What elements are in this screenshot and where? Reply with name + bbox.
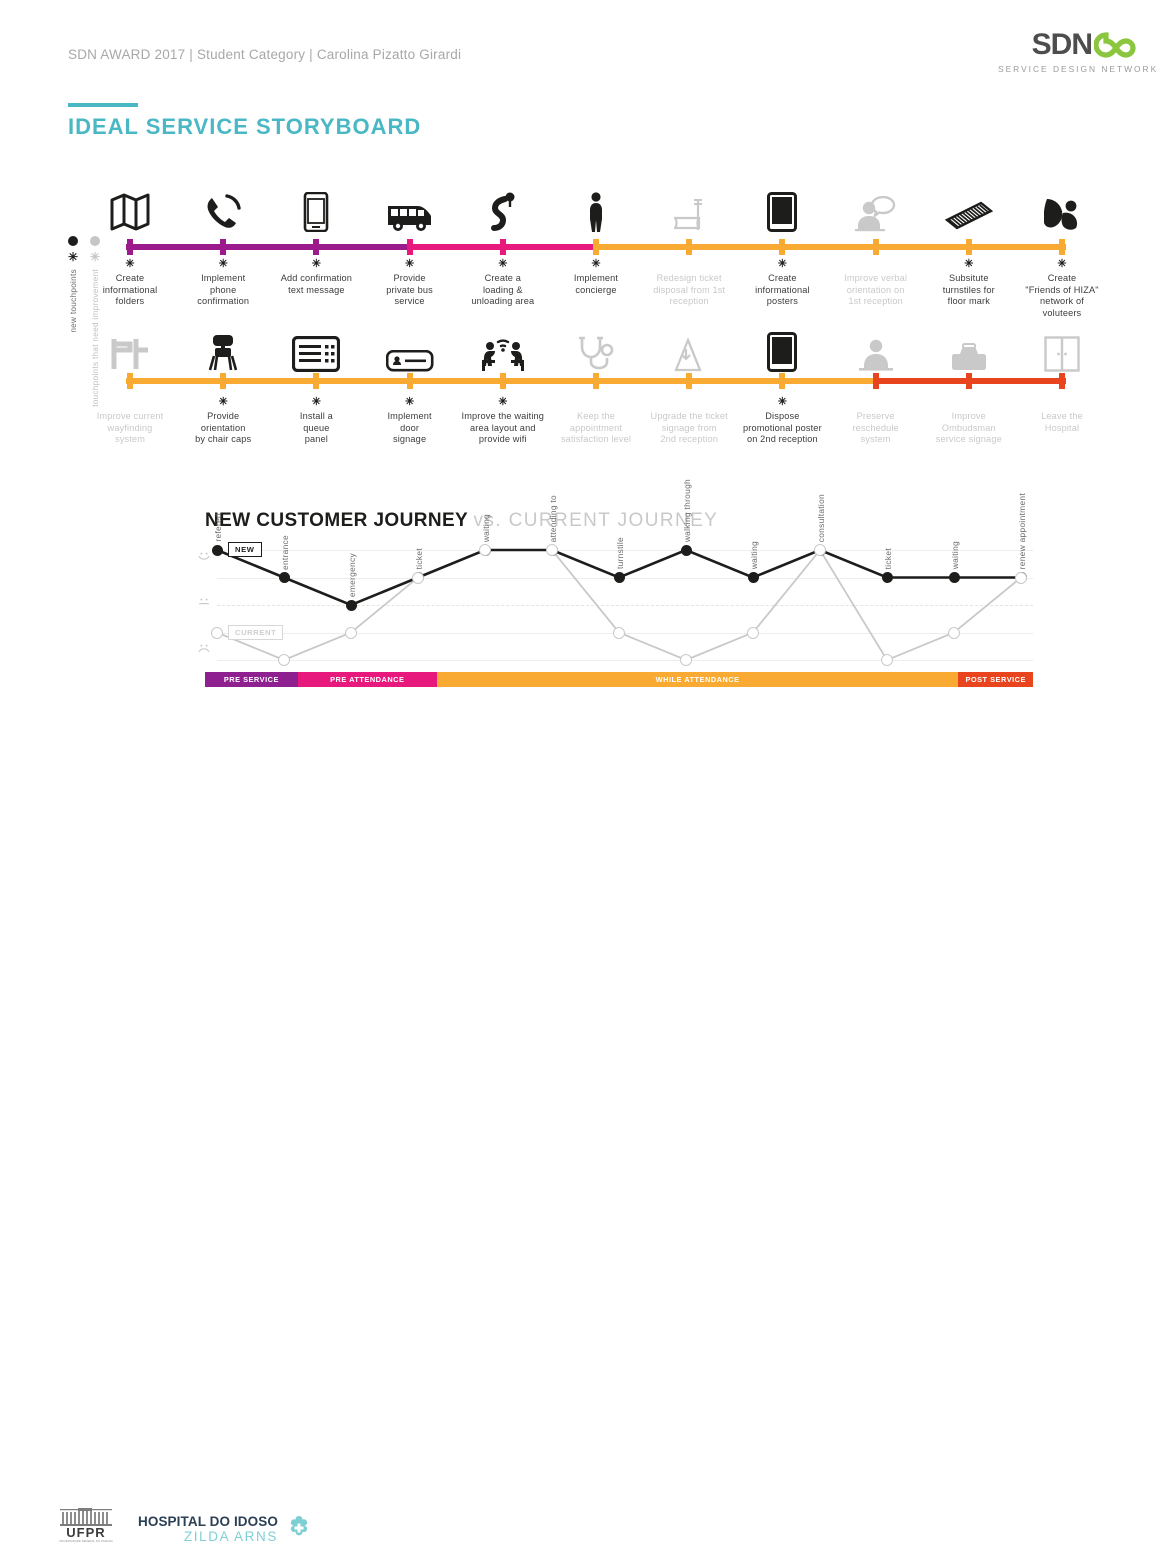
journey-stage-label: ticket bbox=[414, 548, 424, 569]
touchpoint-asterisk-icon: ✳ bbox=[1002, 397, 1122, 409]
journey-stage-label: renew appointment bbox=[1017, 493, 1027, 569]
journey-point-current[interactable] bbox=[345, 627, 357, 639]
touchpoint-improve[interactable]: ✳Leave theHospital bbox=[1002, 316, 1122, 434]
journey-point-new[interactable] bbox=[681, 545, 692, 556]
hospital-cross-flower-icon bbox=[284, 1511, 314, 1546]
sdn-logo-wordmark: SDN bbox=[1032, 30, 1092, 60]
journey-point-new[interactable] bbox=[614, 572, 625, 583]
ufpr-building-icon bbox=[58, 1508, 114, 1526]
journey-point-current[interactable] bbox=[546, 544, 558, 556]
journey-point-current[interactable] bbox=[747, 627, 759, 639]
journey-point-current[interactable] bbox=[479, 544, 491, 556]
journey-point-current[interactable] bbox=[211, 627, 223, 639]
journey-point-current[interactable] bbox=[412, 572, 424, 584]
journey-stage-label: ticket bbox=[883, 548, 893, 569]
volunteers-icon bbox=[1002, 176, 1122, 232]
journey-chart-title: NEW CUSTOMER JOURNEY vs. CURRENT JOURNEY bbox=[205, 510, 718, 532]
ufpr-logo: UFPR UNIVERSIDADE FEDERAL DO PARANA bbox=[58, 1508, 114, 1543]
touchpoint-new[interactable]: ✳Create"Friends of HIZA"network ofvolute… bbox=[1002, 176, 1122, 319]
journey-stage-label: attending to bbox=[548, 495, 558, 542]
ufpr-subtitle: UNIVERSIDADE FEDERAL DO PARANA bbox=[58, 1540, 114, 1543]
journey-tag-new: NEW bbox=[228, 542, 262, 557]
phase-post-service: POST SERVICE bbox=[958, 672, 1033, 687]
journey-stage-label: turnstile bbox=[615, 537, 625, 569]
hospital-logo: HOSPITAL DO IDOSO ZILDA ARNS bbox=[138, 1511, 314, 1546]
journey-phase-bar: PRE SERVICEPRE ATTENDANCEWHILE ATTENDANC… bbox=[205, 672, 1033, 687]
journey-point-new[interactable] bbox=[212, 545, 223, 556]
journey-plot-area: referedentranceemergencyticketwaitingatt… bbox=[205, 546, 1033, 664]
phase-pre-service: PRE SERVICE bbox=[205, 672, 298, 687]
journey-stage-label: walking through bbox=[682, 479, 692, 542]
journey-point-new[interactable] bbox=[949, 572, 960, 583]
journey-point-current[interactable] bbox=[278, 654, 290, 666]
ufpr-wordmark: UFPR bbox=[58, 1526, 114, 1540]
journey-stage-label: waiting bbox=[481, 514, 491, 542]
touchpoint-asterisk-icon: ✳ bbox=[1002, 259, 1122, 271]
touchpoint-label: Leave theHospital bbox=[1002, 411, 1122, 434]
journey-point-current[interactable] bbox=[680, 654, 692, 666]
journey-stage-label: consultation bbox=[816, 494, 826, 542]
page-footer: UFPR UNIVERSIDADE FEDERAL DO PARANA HOSP… bbox=[0, 750, 1176, 800]
customer-journey-chart: NEW CUSTOMER JOURNEY vs. CURRENT JOURNEY… bbox=[0, 498, 1176, 698]
journey-point-new[interactable] bbox=[748, 572, 759, 583]
journey-stage-label: emergency bbox=[347, 553, 357, 597]
journey-point-current[interactable] bbox=[613, 627, 625, 639]
infinity-icon bbox=[1094, 32, 1138, 58]
sdn-logo-subtitle: SERVICE DESIGN NETWORK bbox=[998, 64, 1138, 74]
phase-pre-attendance: PRE ATTENDANCE bbox=[298, 672, 437, 687]
title-rule bbox=[68, 103, 138, 107]
storyboard-row-1: ✳Createinformationalfolders✳Implementpho… bbox=[0, 176, 1176, 316]
header-credit: SDN AWARD 2017 | Student Category | Caro… bbox=[68, 47, 461, 62]
journey-point-new[interactable] bbox=[346, 600, 357, 611]
hospital-name-line1: HOSPITAL DO IDOSO bbox=[138, 1514, 278, 1529]
exit-door-icon bbox=[1002, 316, 1122, 372]
journey-tag-current: CURRENT bbox=[228, 625, 283, 640]
page-title: IDEAL SERVICE STORYBOARD bbox=[68, 114, 421, 140]
storyboard-row-2: ✳Improve currentwayfindingsystem✳Provide… bbox=[0, 316, 1176, 451]
journey-title-new: NEW CUSTOMER JOURNEY bbox=[205, 510, 468, 531]
journey-point-current[interactable] bbox=[948, 627, 960, 639]
journey-stage-label: refered bbox=[213, 513, 223, 542]
phase-while-attendance: WHILE ATTENDANCE bbox=[437, 672, 959, 687]
journey-point-new[interactable] bbox=[279, 572, 290, 583]
sdn-logo: SDN SERVICE DESIGN NETWORK bbox=[998, 30, 1138, 74]
journey-stage-label: waiting bbox=[950, 541, 960, 569]
touchpoint-label: Create"Friends of HIZA"network ofvolutee… bbox=[1002, 273, 1122, 319]
journey-point-current[interactable] bbox=[881, 654, 893, 666]
hospital-name-line2: ZILDA ARNS bbox=[138, 1529, 278, 1544]
journey-stage-label: waiting bbox=[749, 541, 759, 569]
journey-point-new[interactable] bbox=[882, 572, 893, 583]
journey-point-current[interactable] bbox=[1015, 572, 1027, 584]
journey-stage-label: entrance bbox=[280, 535, 290, 570]
page-header: SDN AWARD 2017 | Student Category | Caro… bbox=[0, 0, 1176, 100]
journey-point-current[interactable] bbox=[814, 544, 826, 556]
